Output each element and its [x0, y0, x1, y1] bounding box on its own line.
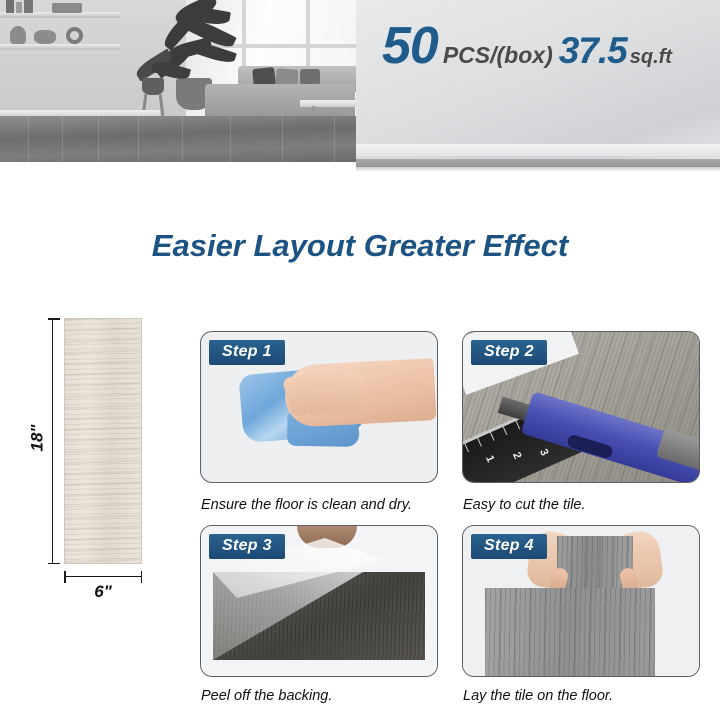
step-panel-1: Step 1: [200, 331, 438, 483]
height-dimension-line: [52, 318, 54, 564]
ring-decor-icon: [66, 27, 83, 44]
book-icon: [16, 2, 22, 13]
finger-icon: [341, 371, 364, 415]
book-stack-icon: [52, 3, 82, 13]
pieces-unit: PCS/(box): [443, 44, 553, 67]
hero-section: 50 PCS/(box) 37.5 sq.ft: [0, 0, 720, 172]
step-caption-1: Ensure the floor is clean and dry.: [201, 497, 461, 513]
book-icon: [24, 0, 33, 13]
step-caption-4: Lay the tile on the floor.: [463, 688, 720, 704]
banner-sheen: [356, 144, 720, 156]
infographic-page: 50 PCS/(box) 37.5 sq.ft Easier Layout Gr…: [0, 0, 720, 720]
step-panel-3: Step 3: [200, 525, 438, 677]
step-tag-4: Step 4: [471, 534, 547, 559]
ruler-number-3: 3: [537, 447, 550, 457]
vase-icon: [10, 26, 26, 44]
width-dimension-label: 6": [64, 582, 142, 602]
small-planter-icon: [142, 78, 164, 95]
step-caption-2: Easy to cut the tile.: [463, 497, 720, 513]
coverage-area: 37.5: [559, 32, 627, 69]
step-tag-2: Step 2: [471, 340, 547, 365]
step-panel-4: Step 4: [462, 525, 700, 677]
banner-edge-light: [356, 167, 720, 172]
step-panel-2: 1 2 3 Step 2: [462, 331, 700, 483]
throw-pillow-icon: [300, 69, 320, 85]
bowl-icon: [34, 30, 56, 44]
height-dimension-label: 18": [27, 425, 47, 452]
spec-banner-text: 50 PCS/(box) 37.5 sq.ft: [382, 20, 672, 72]
room-floor: [0, 116, 372, 162]
plank-swatch: [64, 318, 142, 564]
pieces-count: 50: [382, 20, 438, 72]
step-tag-3: Step 3: [209, 534, 285, 559]
width-dimension-line: [64, 576, 142, 578]
ruler-number-2: 2: [510, 450, 523, 460]
coverage-unit: sq.ft: [630, 47, 672, 67]
plank-dimension-diagram: 18" 6": [22, 310, 172, 575]
page-title: Easier Layout Greater Effect: [0, 228, 720, 264]
ruler-number-1: 1: [483, 454, 496, 464]
step-tag-1: Step 1: [209, 340, 285, 365]
book-icon: [6, 0, 14, 13]
spec-banner: 50 PCS/(box) 37.5 sq.ft: [356, 0, 720, 172]
wall-shelf-lower: [0, 44, 120, 50]
hero-room-photo: [0, 0, 372, 162]
step-caption-3: Peel off the backing.: [201, 688, 461, 704]
gray-floor-plank-icon: [485, 588, 655, 677]
